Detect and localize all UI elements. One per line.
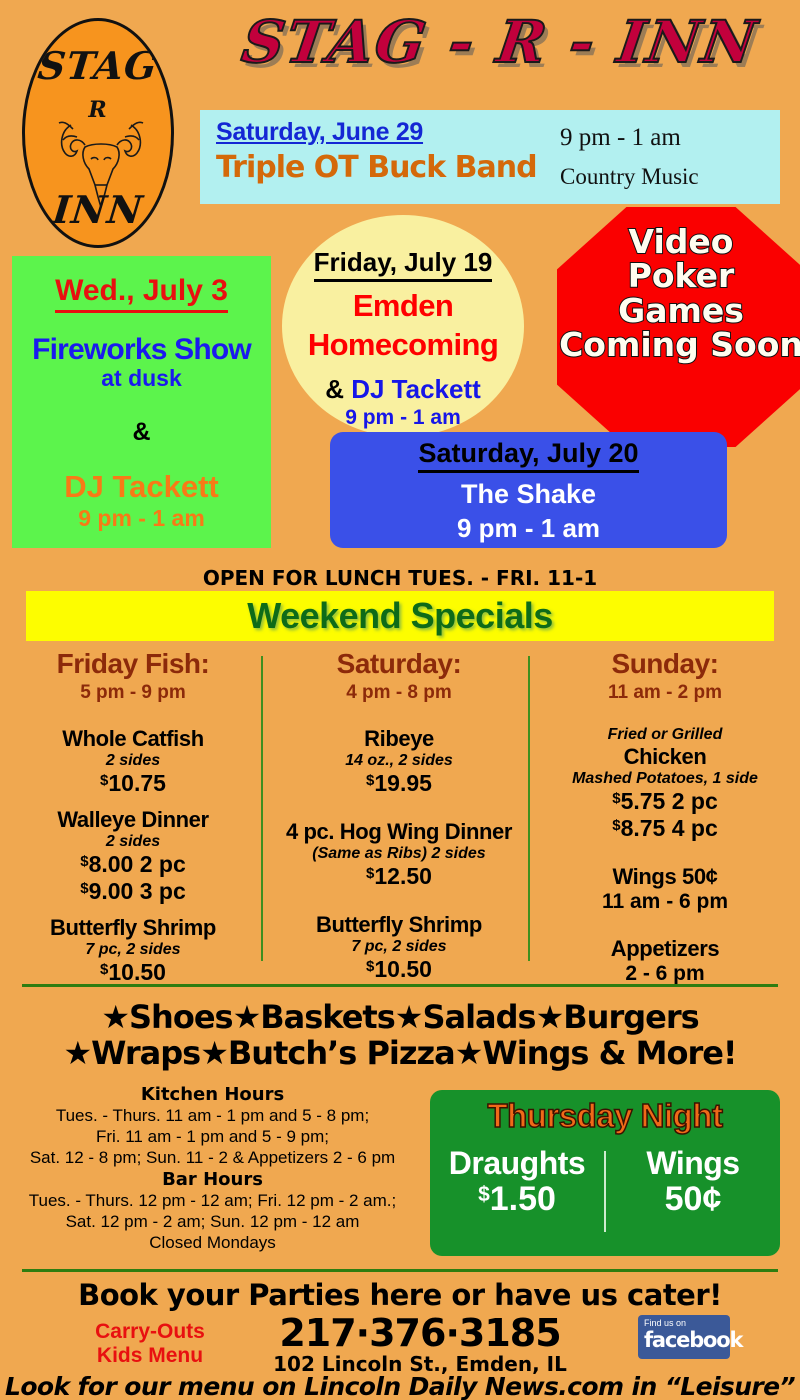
event-band-name: The Shake <box>330 479 727 510</box>
menu-link-tagline: Look for our menu on Lincoln Daily News.… <box>0 1372 800 1400</box>
event-date: Wed., July 3 <box>55 274 228 313</box>
event-ampersand: & <box>12 418 271 447</box>
flyer-page: STAG R INN STAG - R - INN Saturday, June… <box>0 0 800 1400</box>
menu-item: Wings 50¢ 11 am - 6 pm <box>532 864 798 914</box>
event-genre: Country Music <box>560 164 780 190</box>
event-time: 9 pm - 1 am <box>12 505 271 532</box>
menu-item: Appetizers 2 - 6 pm <box>532 936 798 986</box>
item-name: Appetizers <box>532 936 798 962</box>
kitchen-hours-line: Tues. - Thurs. 11 am - 1 pm and 5 - 8 pm… <box>0 1106 425 1126</box>
octagon-line-3: Games <box>557 294 800 328</box>
menu-item: 4 pc. Hog Wing Dinner (Same as Ribs) 2 s… <box>266 819 532 890</box>
event-headline: Fireworks Show <box>12 333 271 367</box>
column-hours: 11 am - 2 pm <box>532 682 798 704</box>
event-dj-row: & DJ Tackett <box>282 374 524 405</box>
item-price: $19.95 <box>266 770 532 797</box>
column-hours: 4 pm - 8 pm <box>266 682 532 704</box>
event-subline: at dusk <box>12 365 271 392</box>
menu-item: Whole Catfish 2 sides $10.75 <box>0 726 266 797</box>
stag-r-inn-logo: STAG R INN <box>22 18 174 248</box>
column-title: Friday Fish: <box>0 648 266 680</box>
facebook-wordmark: facebook <box>644 1329 730 1352</box>
wings-label: Wings <box>606 1145 780 1182</box>
page-title: STAG - R - INN <box>195 8 800 76</box>
price-value: 8.00 2 pc <box>89 851 186 877</box>
event-title-line2: Homecoming <box>282 330 524 360</box>
weekend-specials-header: Weekend Specials <box>26 591 774 641</box>
column-title: Sunday: <box>532 648 798 680</box>
event-dj-name: DJ Tackett <box>12 469 271 505</box>
kids-menu-label: Kids Menu <box>55 1344 245 1368</box>
currency-symbol: $ <box>612 817 620 834</box>
bar-hours-title: Bar Hours <box>0 1169 425 1190</box>
section-divider <box>22 1269 778 1272</box>
item-price: $10.50 <box>266 956 532 983</box>
event-banner-june29: Saturday, June 29 Triple OT Buck Band 9 … <box>200 110 780 204</box>
item-desc: 2 sides <box>0 833 266 851</box>
item-name: 4 pc. Hog Wing Dinner <box>266 819 532 845</box>
currency-symbol: $ <box>478 1183 490 1206</box>
event-box-july20: Saturday, July 20 The Shake 9 pm - 1 am <box>330 432 727 548</box>
thursday-grid: Draughts $1.50 Wings 50¢ <box>430 1145 780 1250</box>
price-value: 9.00 3 pc <box>89 878 186 904</box>
currency-symbol: $ <box>80 880 88 897</box>
octagon-line-2: Poker <box>557 259 800 293</box>
event-time: 9 pm - 1 am <box>330 513 727 544</box>
wings-price: 50¢ <box>606 1180 780 1219</box>
booking-tagline: Book your Parties here or have us cater! <box>0 1278 800 1312</box>
event-date: Saturday, July 20 <box>418 438 638 473</box>
event-box-july3: Wed., July 3 Fireworks Show at dusk & DJ… <box>12 256 271 548</box>
item-price-alt: $8.75 4 pc <box>532 815 798 842</box>
item-hours: 2 - 6 pm <box>532 962 798 986</box>
item-price: $8.00 2 pc <box>0 851 266 878</box>
event-banner-right: 9 pm - 1 am Country Music <box>560 110 780 204</box>
event-date: Friday, July 19 <box>314 247 493 282</box>
event-date: Saturday, June 29 <box>216 118 560 147</box>
specials-column-friday: Friday Fish: 5 pm - 9 pm Whole Catfish 2… <box>0 648 266 970</box>
draughts-label: Draughts <box>430 1145 604 1182</box>
item-desc: (Same as Ribs) 2 sides <box>266 845 532 863</box>
octagon-text-wrap: Video Poker Games Coming Soon <box>557 207 800 362</box>
bar-hours-line: Sat. 12 pm - 2 am; Sun. 12 pm - 12 am <box>0 1212 425 1232</box>
column-title: Saturday: <box>266 648 532 680</box>
menu-stars-line-1: ★Shoes★Baskets★Salads★Burgers <box>0 998 800 1036</box>
event-band-name: Triple OT Buck Band <box>216 150 560 185</box>
item-preface: Fried or Grilled <box>532 726 798 744</box>
item-price: $10.50 <box>0 959 266 986</box>
item-price-alt: $9.00 3 pc <box>0 878 266 905</box>
menu-item: Ribeye 14 oz., 2 sides $19.95 <box>266 726 532 797</box>
menu-stars-line-2: ★Wraps★Butch’s Pizza★Wings & More! <box>0 1034 800 1072</box>
item-desc: 7 pc, 2 sides <box>0 941 266 959</box>
currency-symbol: $ <box>612 790 620 807</box>
item-name: Ribeye <box>266 726 532 752</box>
kitchen-hours-line: Fri. 11 am - 1 pm and 5 - 9 pm; <box>0 1127 425 1147</box>
thursday-wings: Wings 50¢ <box>606 1145 780 1250</box>
kitchen-hours-line: Sat. 12 - 8 pm; Sun. 11 - 2 & Appetizers… <box>0 1148 425 1168</box>
item-name: Whole Catfish <box>0 726 266 752</box>
logo-text-stag: STAG <box>23 43 174 88</box>
price-value: 8.75 4 pc <box>621 815 718 841</box>
weekend-specials-title: Weekend Specials <box>247 595 553 636</box>
thursday-title: Thursday Night <box>430 1097 780 1135</box>
kitchen-hours-title: Kitchen Hours <box>0 1084 425 1105</box>
event-time: 9 pm - 1 am <box>560 124 780 152</box>
hours-block: Kitchen Hours Tues. - Thurs. 11 am - 1 p… <box>0 1084 425 1254</box>
price-value: 1.50 <box>490 1180 556 1218</box>
item-name: Walleye Dinner <box>0 807 266 833</box>
item-hours: 11 am - 6 pm <box>532 890 798 914</box>
item-price: $5.75 2 pc <box>532 788 798 815</box>
phone-number[interactable]: 217·376·3185 <box>240 1311 600 1355</box>
specials-column-saturday: Saturday: 4 pm - 8 pm Ribeye 14 oz., 2 s… <box>266 648 532 970</box>
event-title-line1: Emden <box>282 291 524 321</box>
item-desc: Mashed Potatoes, 1 side <box>532 770 798 788</box>
price-value: 10.50 <box>374 956 432 982</box>
video-poker-announcement: Video Poker Games Coming Soon <box>557 207 800 447</box>
item-name: Butterfly Shrimp <box>0 915 266 941</box>
octagon-line-1: Video <box>557 225 800 259</box>
price-value: 19.95 <box>374 770 432 796</box>
bar-hours-line: Tues. - Thurs. 12 pm - 12 am; Fri. 12 pm… <box>0 1191 425 1211</box>
weekend-specials-columns: Friday Fish: 5 pm - 9 pm Whole Catfish 2… <box>0 648 800 970</box>
item-desc: 2 sides <box>0 752 266 770</box>
octagon-line-4: Coming Soon <box>557 328 800 362</box>
item-name: Butterfly Shrimp <box>266 912 532 938</box>
logo-text-inn: INN <box>23 187 174 232</box>
price-value: 5.75 2 pc <box>621 788 718 814</box>
price-value: 12.50 <box>374 863 432 889</box>
closed-mondays-line: Closed Mondays <box>0 1233 425 1253</box>
column-hours: 5 pm - 9 pm <box>0 682 266 704</box>
lunch-hours-line: OPEN FOR LUNCH TUES. - FRI. 11-1 <box>0 566 800 590</box>
price-value: 10.75 <box>108 770 166 796</box>
menu-item: Butterfly Shrimp 7 pc, 2 sides $10.50 <box>0 915 266 986</box>
specials-column-sunday: Sunday: 11 am - 2 pm Fried or Grilled Ch… <box>532 648 798 970</box>
item-name: Wings 50¢ <box>532 864 798 890</box>
currency-symbol: $ <box>80 853 88 870</box>
price-value: 10.50 <box>108 959 166 985</box>
event-ampersand: & <box>325 374 344 404</box>
event-ellipse-july19: Friday, July 19 Emden Homecoming & DJ Ta… <box>282 215 524 437</box>
event-dj-name: DJ Tackett <box>351 374 481 404</box>
item-desc: 7 pc, 2 sides <box>266 938 532 956</box>
thursday-draughts: Draughts $1.50 <box>430 1145 604 1250</box>
menu-item: Butterfly Shrimp 7 pc, 2 sides $10.50 <box>266 912 532 983</box>
section-divider <box>22 984 778 987</box>
item-desc: 14 oz., 2 sides <box>266 752 532 770</box>
menu-item: Fried or Grilled Chicken Mashed Potatoes… <box>532 726 798 842</box>
carry-outs-label: Carry-Outs <box>55 1320 245 1344</box>
item-price: $10.75 <box>0 770 266 797</box>
item-name: Chicken <box>532 744 798 770</box>
event-time: 9 pm - 1 am <box>282 406 524 430</box>
draughts-price: $1.50 <box>430 1180 604 1219</box>
menu-item: Walleye Dinner 2 sides $8.00 2 pc $9.00 … <box>0 807 266 905</box>
event-banner-left: Saturday, June 29 Triple OT Buck Band <box>200 110 560 204</box>
facebook-badge[interactable]: Find us on facebook <box>638 1315 730 1359</box>
thursday-night-special: Thursday Night Draughts $1.50 Wings 50¢ <box>430 1090 780 1256</box>
item-price: $12.50 <box>266 863 532 890</box>
carryout-info: Carry-Outs Kids Menu <box>55 1320 245 1368</box>
